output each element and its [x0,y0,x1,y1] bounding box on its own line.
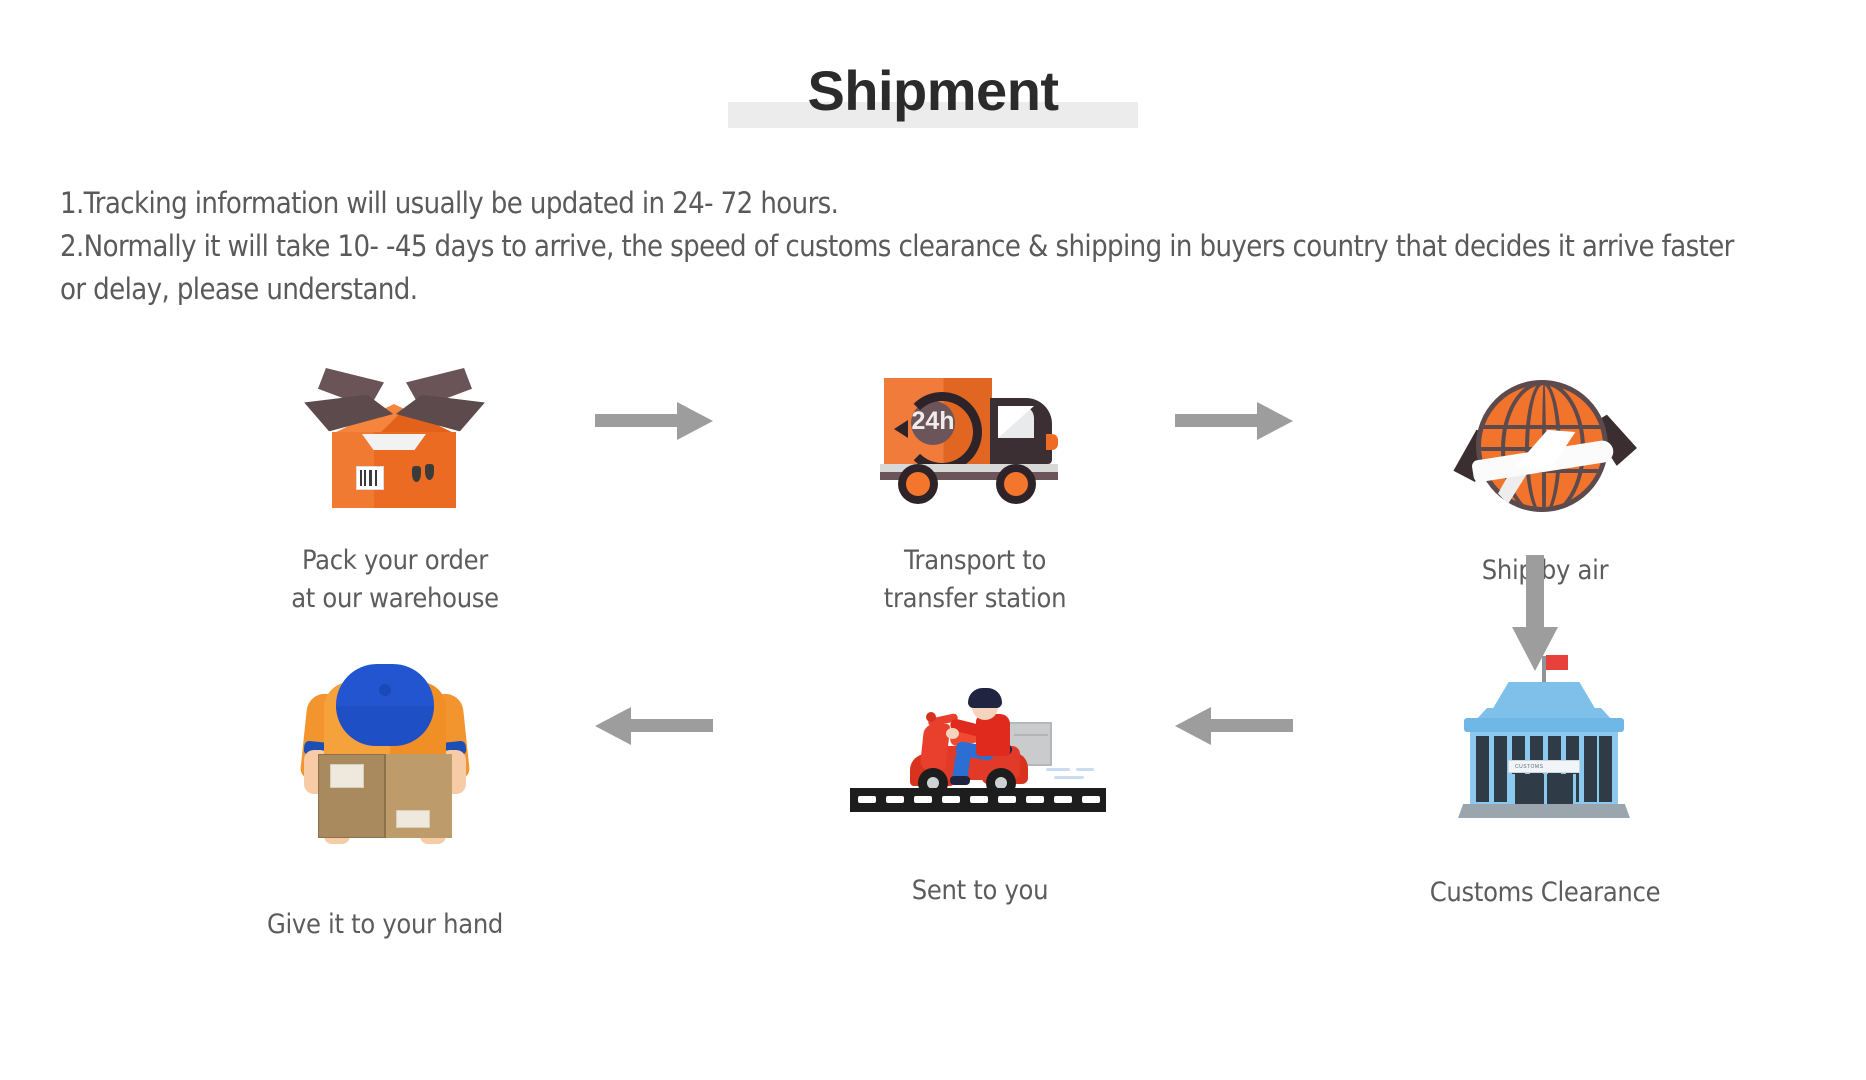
truck-wheel [898,464,938,504]
flow-step-caption: Pack your order at our warehouse [255,542,535,618]
building-roof [1492,682,1596,710]
shipping-note-1: 1.Tracking information will usually be u… [60,182,1760,225]
package-label [330,764,364,788]
airplane-icon [1464,428,1622,506]
rider-hair [968,688,1002,708]
arrow-left-icon [1175,705,1293,745]
page-title: Shipment [807,48,1058,134]
flow-step-caption: Customs Clearance [1400,874,1690,912]
building-base [1458,804,1630,818]
building-sign: CUSTOMS [1508,760,1580,773]
building-column [1494,736,1507,802]
scooter-delivery-icon [850,660,1110,830]
building-flag [1546,655,1568,670]
building-column [1476,736,1489,802]
box-barcode-label [356,466,384,490]
truck-wheel [996,464,1036,504]
box-fragile-label [412,464,438,488]
flow-step-transport: 24h Transport to transfer station [835,360,1115,618]
shipping-note-2: 2.Normally it will take 10- -45 days to … [60,225,1760,311]
truck-window [998,406,1034,438]
flow-step-pack: Pack your order at our warehouse [255,360,535,618]
flow-step-customs: CUSTOMS Customs Clearance [1400,650,1690,912]
road-strip [850,788,1106,812]
shipping-notes: 1.Tracking information will usually be u… [60,182,1760,311]
globe-airplane-icon [1450,370,1640,530]
flow-step-caption: Transport to transfer station [835,542,1115,618]
flow-step-sent: Sent to you [830,660,1130,910]
package-label [396,810,430,828]
arrow-right-icon [1175,400,1293,440]
arrow-left-icon [595,705,713,745]
building-column [1599,736,1612,802]
flow-step-caption: Sent to you [830,872,1130,910]
flow-step-caption: Give it to your hand [245,906,525,944]
customs-building-icon: CUSTOMS [1450,650,1640,830]
building-door [1512,774,1576,806]
delivery-truck-icon: 24h [880,360,1070,520]
page-header: Shipment [0,48,1866,138]
open-box-icon [300,360,490,520]
truck-badge-label: 24h [898,407,968,436]
delivery-man-icon [290,650,480,850]
truck-headlight [1046,434,1058,450]
arrow-right-icon [595,400,713,440]
flow-step-hand: Give it to your hand [245,650,525,944]
shipment-flow-diagram: Pack your order at our warehouse 24h [0,360,1866,1080]
speed-lines [1046,768,1102,786]
building-sign-label: CUSTOMS [1515,764,1543,770]
building-column [1584,736,1597,802]
